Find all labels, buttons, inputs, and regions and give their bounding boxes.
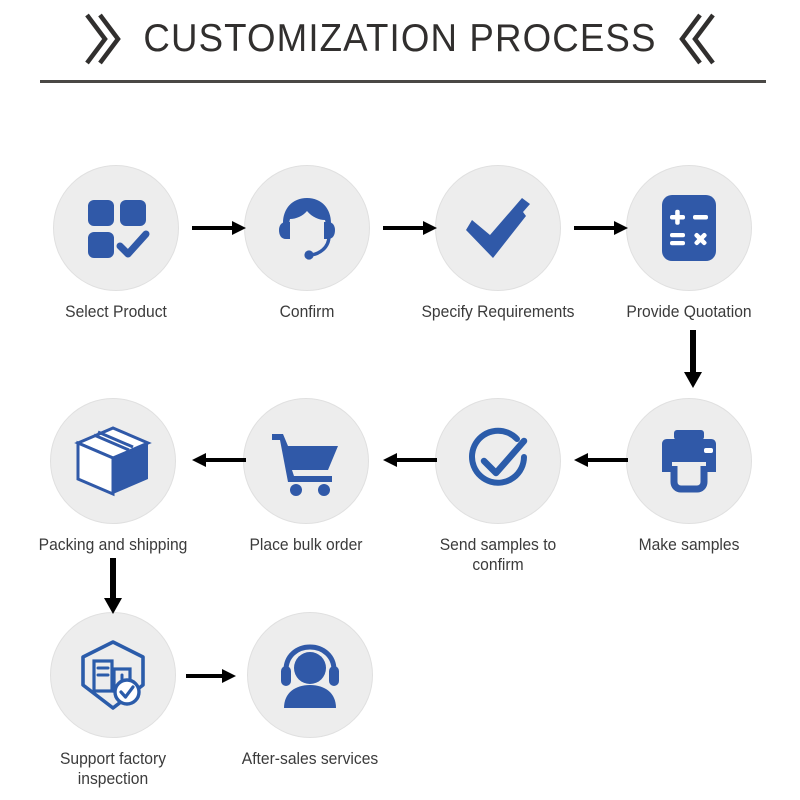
step-node-place-bulk-order[interactable]: Place bulk order: [221, 398, 391, 555]
step-icon-circle: [50, 612, 176, 738]
arrow-packing-to-inspection: [102, 558, 124, 614]
package-box-icon: [74, 424, 152, 498]
step-icon-circle: [435, 165, 561, 291]
step-node-after-sales-services[interactable]: After-sales services: [225, 612, 395, 769]
step-node-make-samples[interactable]: Make samples: [604, 398, 774, 555]
arrow-bulk-to-packing: [192, 450, 246, 470]
step-icon-circle: [435, 398, 561, 524]
step-label: Support factory inspection: [35, 749, 191, 789]
step-label: Send samples to confirm: [420, 535, 576, 575]
step-icon-circle: [243, 398, 369, 524]
grid-check-icon: [80, 192, 152, 264]
shopping-cart-icon: [268, 426, 344, 496]
support-person-icon: [272, 640, 348, 710]
step-node-specify-requirements[interactable]: Specify Requirements: [413, 165, 583, 322]
step-node-support-factory-inspection[interactable]: Support factory inspection: [28, 612, 198, 789]
double-chevron-left-icon: [679, 11, 719, 67]
page-title: CUSTOMIZATION PROCESS: [143, 17, 656, 61]
step-node-confirm[interactable]: Confirm: [222, 165, 392, 322]
step-icon-circle: [626, 165, 752, 291]
step-label: Select Product: [38, 302, 194, 322]
arrow-send-to-bulk: [383, 450, 437, 470]
step-node-provide-quotation[interactable]: Provide Quotation: [604, 165, 774, 322]
arrow-samples-to-send: [574, 450, 628, 470]
title-divider: [40, 80, 766, 83]
step-icon-circle: [247, 612, 373, 738]
step-label: Place bulk order: [228, 535, 384, 555]
printer-icon: [652, 426, 726, 496]
checkmark-icon: [460, 190, 536, 266]
step-label: Make samples: [611, 535, 767, 555]
step-node-send-samples-to-confirm[interactable]: Send samples to confirm: [413, 398, 583, 575]
step-label: Provide Quotation: [611, 302, 767, 322]
step-node-select-product[interactable]: Select Product: [31, 165, 201, 322]
arrow-quotation-to-samples: [682, 330, 704, 388]
step-icon-circle: [50, 398, 176, 524]
arrow-confirm-to-specify: [383, 218, 437, 238]
step-label: Packing and shipping: [35, 535, 191, 555]
arrow-specify-to-quotation: [574, 218, 628, 238]
arrow-select-to-confirm: [192, 218, 246, 238]
headset-agent-icon: [269, 190, 345, 266]
step-label: Confirm: [229, 302, 385, 322]
factory-shield-check-icon: [75, 637, 151, 713]
step-node-packing-and-shipping[interactable]: Packing and shipping: [28, 398, 198, 555]
step-icon-circle: [626, 398, 752, 524]
step-label: After-sales services: [232, 749, 388, 769]
arrow-inspection-to-aftersales: [186, 666, 236, 686]
check-circle-icon: [460, 423, 536, 499]
step-label: Specify Requirements: [420, 302, 576, 322]
page-header: CUSTOMIZATION PROCESS: [0, 8, 800, 98]
double-chevron-right-icon: [81, 11, 121, 67]
calculator-icon: [656, 191, 722, 265]
step-icon-circle: [244, 165, 370, 291]
step-icon-circle: [53, 165, 179, 291]
title-row: CUSTOMIZATION PROCESS: [0, 8, 800, 70]
